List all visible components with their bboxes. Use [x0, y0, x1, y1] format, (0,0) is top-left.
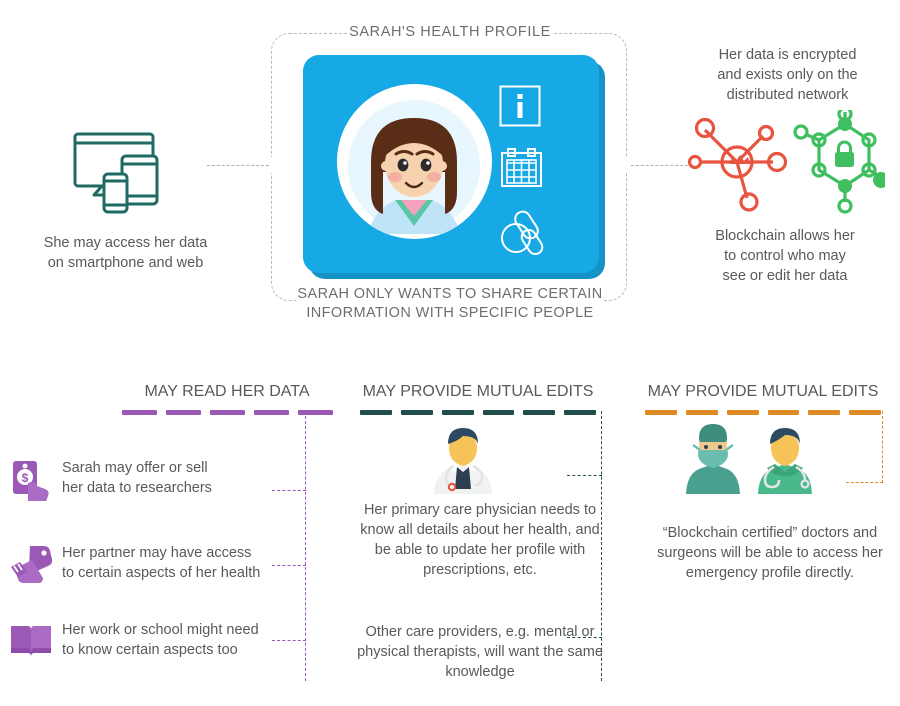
- avatar: [337, 84, 492, 239]
- pills-icon[interactable]: [499, 209, 571, 260]
- profile-caption-line-2: INFORMATION WITH SPECIFIC PEOPLE: [260, 304, 640, 323]
- list-item-text: Sarah may offer or sell her data to rese…: [62, 458, 212, 498]
- blockchain-line-3: see or edit her data: [690, 266, 880, 286]
- svg-text:$: $: [22, 471, 29, 485]
- handshake-icon: [8, 540, 54, 586]
- column-header-label: MAY PROVIDE MUTUAL EDITS: [645, 383, 881, 401]
- encrypted-caption: Her data is encrypted and exists only on…: [690, 45, 885, 105]
- open-book-icon: [8, 617, 54, 663]
- devices-caption: She may access her data on smartphone an…: [18, 233, 233, 273]
- list-item-text: Her partner may have access to certain a…: [62, 543, 260, 583]
- column-accent-dashes: [360, 410, 596, 415]
- column-accent-dashes: [110, 410, 344, 415]
- encrypted-line-1: Her data is encrypted: [690, 45, 885, 65]
- list-item: Her partner may have access to certain a…: [8, 540, 288, 586]
- connector-left-dotted: [207, 165, 269, 166]
- devices-caption-line-1: She may access her data: [18, 233, 233, 253]
- health-profile-card[interactable]: [303, 55, 599, 273]
- profile-title: SARAH'S HEALTH PROFILE: [300, 24, 600, 40]
- list-item: $ Sarah may offer or sell her data to re…: [8, 455, 288, 501]
- column-header-edits-right: MAY PROVIDE MUTUAL EDITS: [645, 383, 881, 415]
- right-paragraph: “Blockchain certified” doctors and surge…: [640, 523, 900, 583]
- column-header-label: MAY READ HER DATA: [110, 383, 344, 401]
- surgeon-and-doctor-icon: [678, 422, 818, 494]
- doctor-physician-icon: [424, 422, 502, 494]
- connector-orange-branch-1: [846, 482, 883, 483]
- column-header-read: MAY READ HER DATA: [110, 383, 344, 415]
- info-icon[interactable]: [499, 85, 571, 132]
- connector-right-dotted: [631, 165, 693, 166]
- mid-paragraph-1: Her primary care physician needs to know…: [355, 500, 605, 580]
- encrypted-line-3: distributed network: [690, 85, 885, 105]
- hand-money-icon: $: [8, 455, 54, 501]
- calendar-icon[interactable]: [499, 147, 571, 194]
- list-item-text: Her work or school might need to know ce…: [62, 620, 259, 660]
- column-header-label: MAY PROVIDE MUTUAL EDITS: [360, 383, 596, 401]
- connector-teal-branch-1: [567, 475, 602, 476]
- connector-orange-vertical: [882, 411, 883, 483]
- card-icon-list: [499, 85, 571, 275]
- profile-caption: SARAH ONLY WANTS TO SHARE CERTAIN INFORM…: [260, 285, 640, 323]
- network-icons: [685, 110, 885, 215]
- devices-icon: [72, 130, 182, 215]
- column-accent-dashes: [645, 410, 881, 415]
- profile-caption-line-1: SARAH ONLY WANTS TO SHARE CERTAIN: [260, 285, 640, 304]
- column-header-edits-mid: MAY PROVIDE MUTUAL EDITS: [360, 383, 596, 415]
- blockchain-caption: Blockchain allows her to control who may…: [690, 226, 880, 286]
- devices-caption-line-2: on smartphone and web: [18, 253, 233, 273]
- list-item: Her work or school might need to know ce…: [8, 617, 288, 663]
- encrypted-line-2: and exists only on the: [690, 65, 885, 85]
- blockchain-line-1: Blockchain allows her: [690, 226, 880, 246]
- blockchain-line-2: to control who may: [690, 246, 880, 266]
- mid-paragraph-2: Other care providers, e.g. mental or phy…: [350, 622, 610, 682]
